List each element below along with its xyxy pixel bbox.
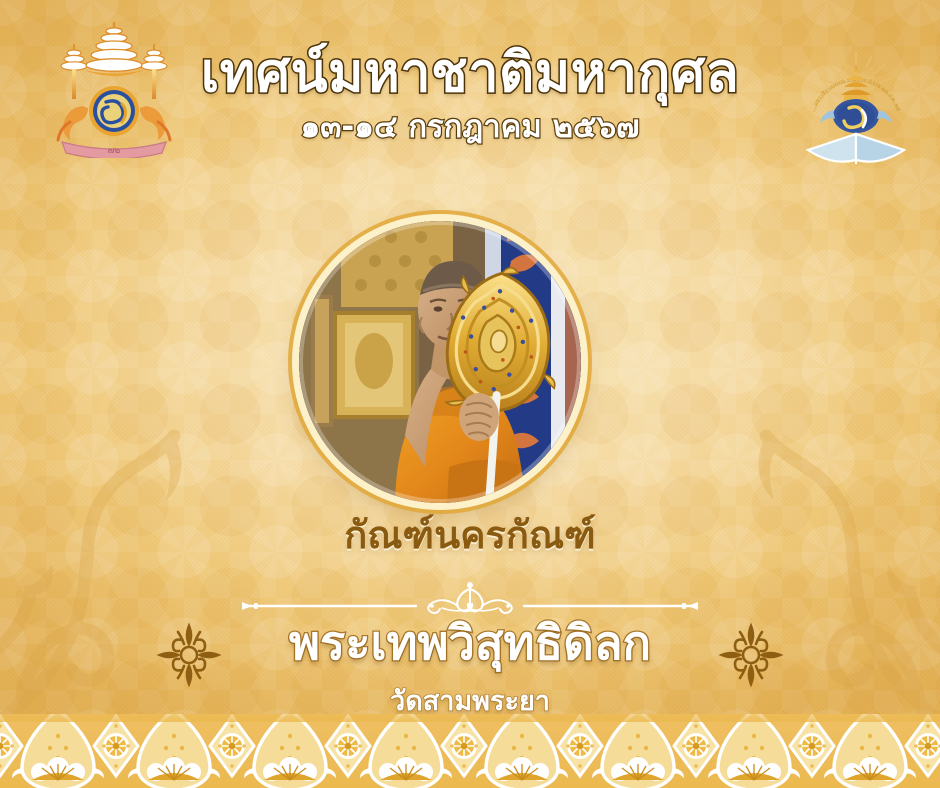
event-date: ๑๓-๑๔ กรกฎาคม ๒๕๖๗ (0, 112, 940, 143)
poster-root: ๗๒ มหาวชิราลงกรณ บรมราชาธิราช ๒๘ ก.ค. ๒๕… (0, 0, 940, 788)
monk-portrait-image (299, 221, 581, 503)
lotus-border-pattern (0, 714, 940, 788)
monk-portrait (299, 221, 581, 503)
page-title: เทศน์มหาชาติมหากุศล (0, 46, 940, 100)
monk-name: พระเทพวิสุทธิดิลก (0, 620, 940, 667)
temple-name: วัดสามพระยา (0, 688, 940, 715)
thai-lotus-border (0, 714, 940, 788)
border-fade (0, 714, 940, 722)
header-title-block: เทศน์มหาชาติมหากุศล ๑๓-๑๔ กรกฎาคม ๒๕๖๗ (0, 46, 940, 143)
ornamental-flourish-divider (228, 578, 712, 618)
chapter-title: กัณฑ์นครกัณฑ์ (0, 516, 940, 554)
svg-text:๗๒: ๗๒ (108, 146, 121, 156)
